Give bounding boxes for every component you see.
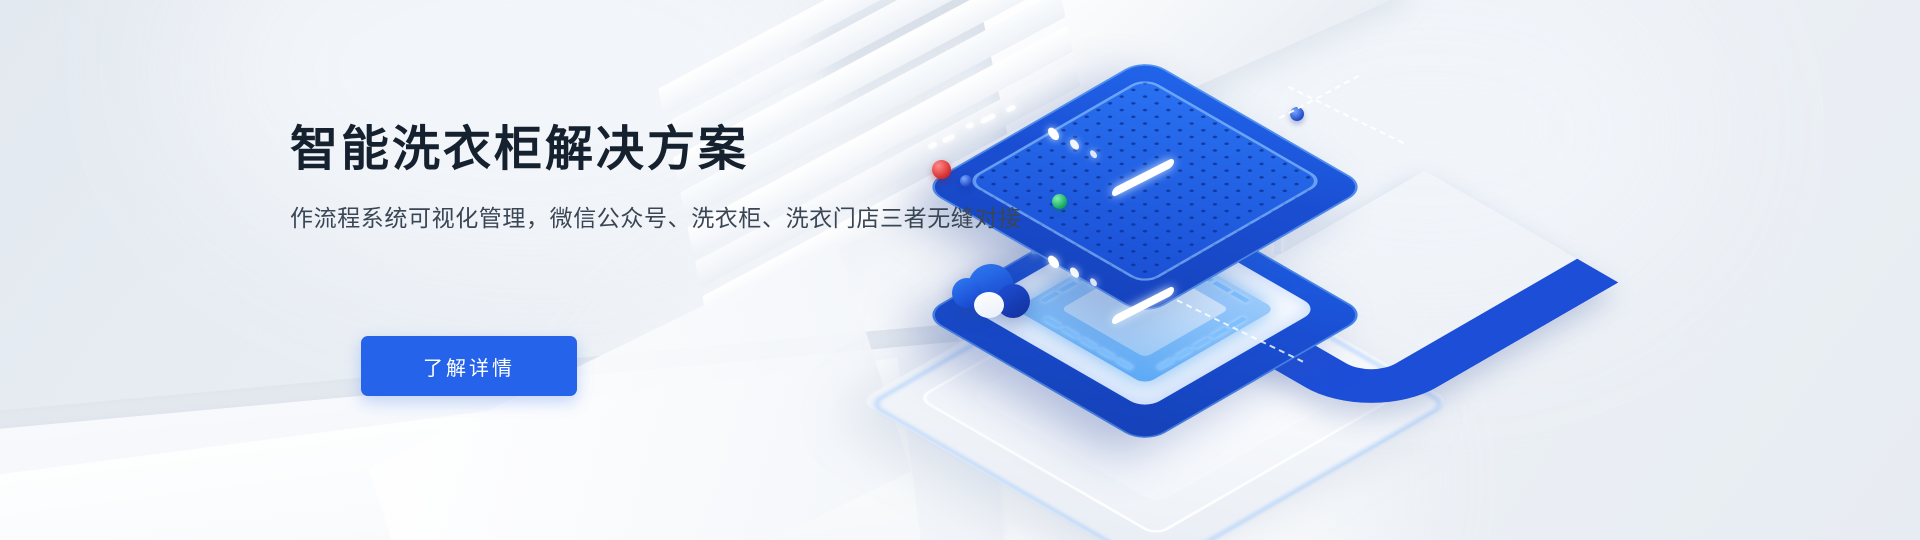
page-title: 智能洗衣柜解决方案 [290, 124, 749, 177]
page-subtitle: 作流程系统可视化管理，微信公众号、洗衣柜、洗衣门店三者无缝对接 [290, 199, 1022, 233]
hero-content: 智能洗衣柜解决方案 作流程系统可视化管理，微信公众号、洗衣柜、洗衣门店三者无缝对… [0, 0, 1920, 540]
hero-banner: 智能洗衣柜解决方案 作流程系统可视化管理，微信公众号、洗衣柜、洗衣门店三者无缝对… [0, 0, 1920, 540]
learn-more-button[interactable]: 了解详情 [361, 336, 577, 396]
